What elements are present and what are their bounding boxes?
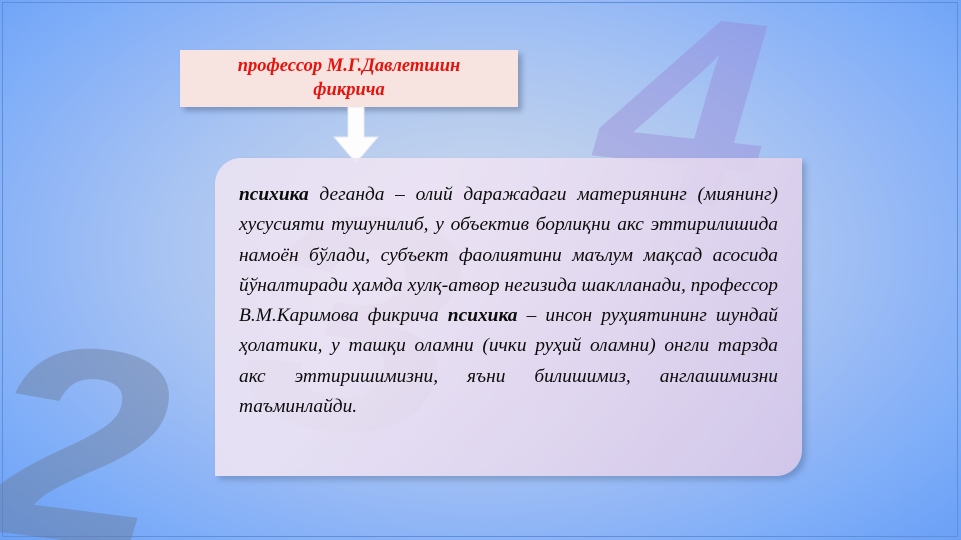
watermark-numeral-2: 2 — [0, 300, 211, 540]
slide-canvas: 4 3 2 профессор М.Г.Давлетшин фикрича пс… — [0, 0, 961, 540]
down-arrow-icon — [330, 107, 382, 165]
body-paragraph: психика деганда – олий даражадаги матери… — [239, 180, 778, 422]
body-term-emphasis: психика — [239, 184, 309, 205]
body-term-emphasis: психика — [448, 305, 518, 326]
title-callout-box[interactable]: профессор М.Г.Давлетшин фикрича — [180, 50, 518, 107]
body-text-box[interactable]: психика деганда – олий даражадаги матери… — [215, 158, 802, 476]
title-callout-text: профессор М.Г.Давлетшин фикрича — [238, 55, 461, 102]
